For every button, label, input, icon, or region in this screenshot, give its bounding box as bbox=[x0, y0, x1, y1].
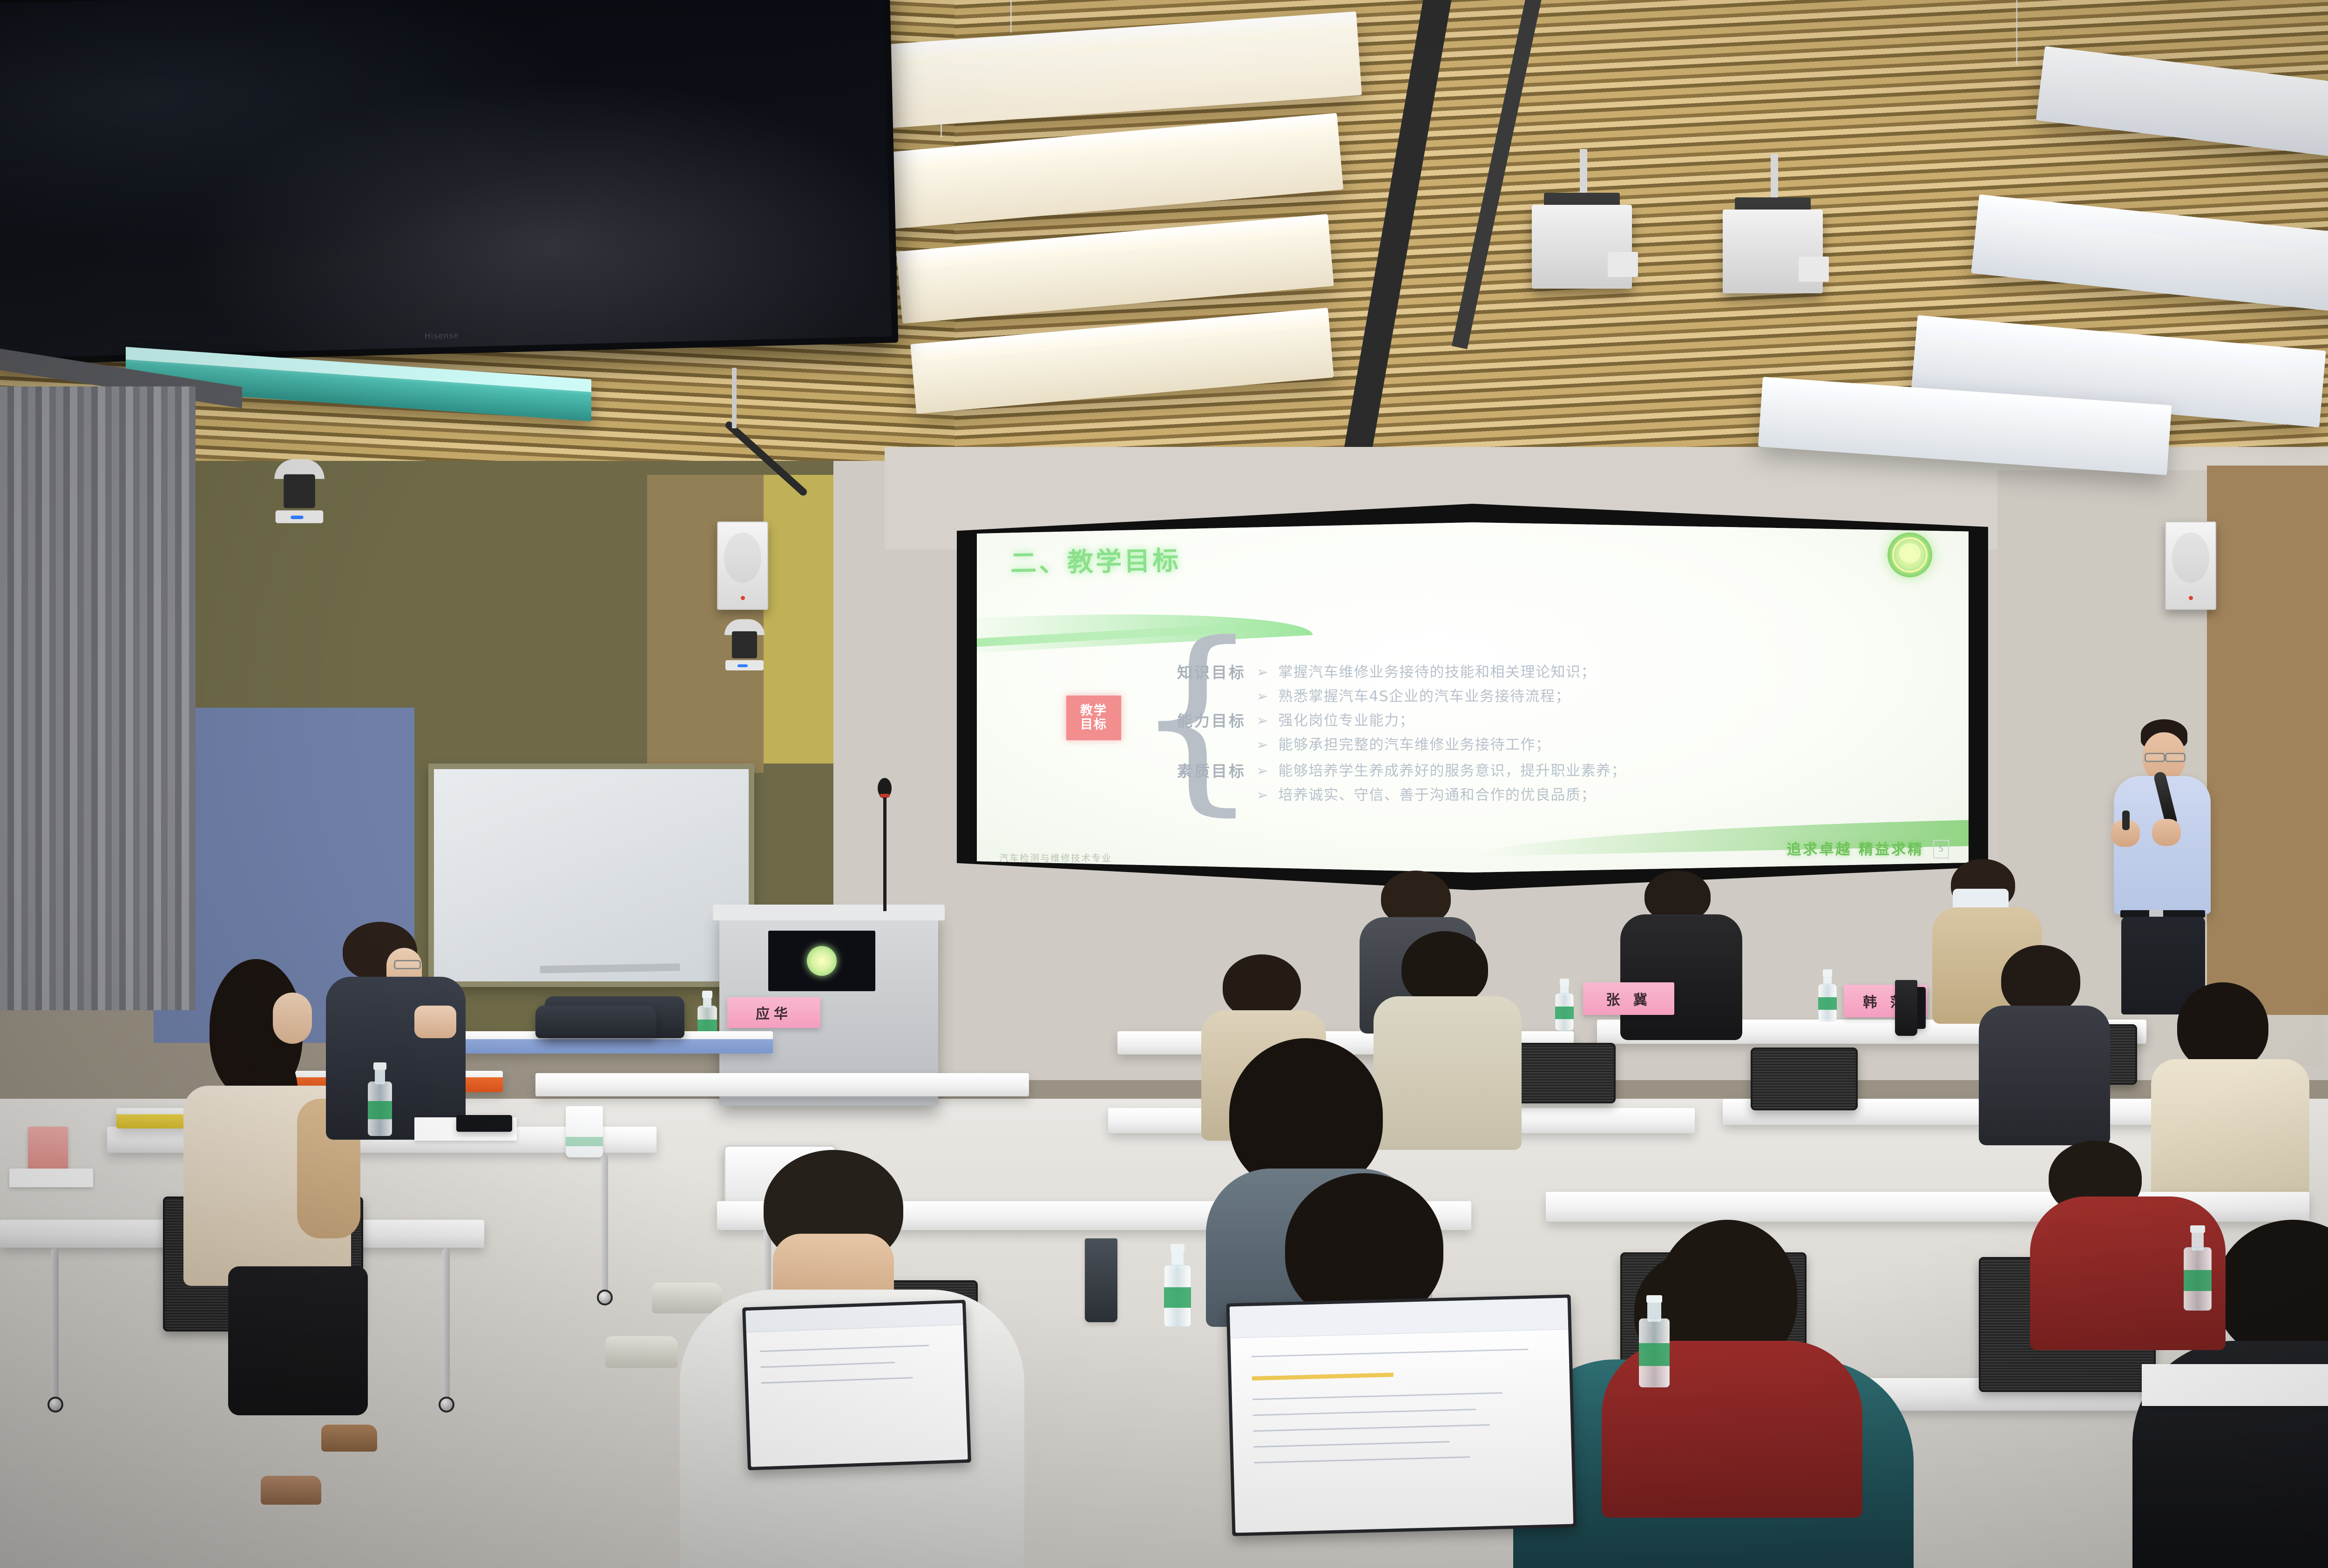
hand bbox=[414, 1006, 456, 1038]
slide-tag-line2: 目标 bbox=[1080, 718, 1107, 732]
thermos-mid bbox=[1895, 980, 1917, 1036]
water-bottle-front-2 bbox=[2184, 1229, 2212, 1311]
bullet-arrow-icon-2: ➢ bbox=[1256, 688, 1269, 705]
bullet-text-2: 熟悉掌握汽车4S企业的汽车业务接待流程； bbox=[1278, 688, 1570, 705]
papers-foreground bbox=[2142, 1364, 2328, 1406]
slide-bullet-2: ➢熟悉掌握汽车4S企业的汽车业务接待流程； bbox=[1256, 684, 1570, 705]
torso bbox=[326, 977, 466, 1140]
papers-left bbox=[9, 1169, 93, 1187]
podium-microphone-stem bbox=[883, 789, 887, 911]
water-bottle-left bbox=[368, 1066, 392, 1136]
presenter-glasses-icon-2 bbox=[2165, 753, 2186, 762]
wall-speaker-left bbox=[717, 521, 768, 610]
bullet-arrow-icon-5: ➢ bbox=[1256, 763, 1269, 779]
projection-screen: 二、教学目标 教学 目标 { 知识目标 能力目标 素质目标 ➢掌握汽车维修业务接… bbox=[977, 522, 1969, 872]
ptz-camera-front-icon bbox=[724, 619, 765, 670]
curly-brace-icon: { bbox=[1133, 647, 1171, 787]
slide-tag-badge: 教学 目标 bbox=[1066, 696, 1121, 740]
desk-leg bbox=[601, 1154, 608, 1293]
whiteboard bbox=[428, 764, 754, 987]
goal-label-quality: 素质目标 bbox=[1177, 759, 1246, 781]
ceiling-projector-2 bbox=[1723, 210, 1823, 293]
face-profile bbox=[273, 993, 312, 1044]
ptz-camera-icon bbox=[274, 459, 325, 523]
spreadsheet-toolbar bbox=[1230, 1298, 1569, 1338]
slide-bullet-1: ➢掌握汽车维修业务接待的技能和相关理论知识； bbox=[1256, 660, 1596, 681]
presenter-glasses-icon bbox=[2145, 753, 2165, 762]
bullet-text-1: 掌握汽车维修业务接待的技能和相关理论知识； bbox=[1278, 664, 1596, 681]
bullet-text-5: 能够培养学生养成养好的服务意识，提升职业素养； bbox=[1278, 763, 1626, 779]
slide-tag-line1: 教学 bbox=[1080, 704, 1107, 718]
torso bbox=[1374, 996, 1522, 1150]
head-hair bbox=[2001, 945, 2080, 1015]
slide-bullet-4: ➢能够承担完整的汽车维修业务接待工作； bbox=[1256, 733, 1550, 754]
laptop-screen-center bbox=[1230, 1298, 1573, 1533]
bullet-text-4: 能够承担完整的汽车维修业务接待工作； bbox=[1278, 737, 1550, 753]
presenter-hand-right bbox=[2152, 819, 2181, 846]
torso bbox=[2151, 1059, 2309, 1213]
bullet-arrow-icon: ➢ bbox=[1256, 664, 1269, 681]
water-bottle-2 bbox=[1555, 982, 1574, 1031]
bullet-arrow-icon-6: ➢ bbox=[1256, 787, 1269, 804]
bullet-text-3: 强化岗位专业能力； bbox=[1278, 712, 1414, 729]
desk-caster bbox=[47, 1397, 63, 1413]
podium-microphone-ring bbox=[880, 794, 890, 798]
bag-on-blue-desk bbox=[535, 1006, 656, 1038]
water-bottle-front-3 bbox=[1164, 1248, 1191, 1327]
desk-caster bbox=[597, 1290, 613, 1305]
dark-tumbler-front bbox=[1085, 1238, 1117, 1322]
skirt bbox=[228, 1266, 368, 1415]
slide-footer-left: 汽车检测与维修技术专业 bbox=[999, 851, 1112, 864]
desk-leg bbox=[442, 1248, 450, 1401]
slide-bullet-6: ➢培养诚实、守信、善于沟通和合作的优良品质； bbox=[1256, 783, 1596, 804]
spreadsheet-toolbar-left bbox=[745, 1303, 963, 1332]
laptop-center[interactable] bbox=[1226, 1294, 1577, 1536]
tv-screen-reflection bbox=[0, 0, 892, 358]
torso bbox=[1979, 1006, 2110, 1145]
desk-mid-row-left bbox=[535, 1073, 1029, 1096]
water-bottle-3 bbox=[1818, 973, 1837, 1021]
window-curtain bbox=[0, 386, 196, 1010]
slide-bullet-3: ➢强化岗位专业能力； bbox=[1256, 709, 1414, 730]
slide-title: 二、教学目标 bbox=[1010, 540, 1181, 580]
light-wire bbox=[1010, 0, 1012, 33]
sneaker-left bbox=[652, 1283, 722, 1313]
goal-label-knowledge: 知识目标 bbox=[1177, 660, 1246, 683]
podium-monitor-logo-icon bbox=[807, 946, 837, 976]
chair-mid-2[interactable] bbox=[1751, 1048, 1858, 1110]
water-bottle-front-1 bbox=[1639, 1299, 1670, 1387]
glasses-icon bbox=[394, 960, 421, 969]
ceiling-projector-1 bbox=[1532, 205, 1632, 289]
school-logo-icon bbox=[1888, 533, 1932, 577]
light-wire-2 bbox=[941, 112, 942, 137]
laptop-screen-left bbox=[745, 1303, 968, 1467]
boom-mic-mount bbox=[732, 368, 737, 428]
goal-label-ability: 能力目标 bbox=[1177, 709, 1246, 731]
bullet-text-6: 培养诚实、守信、善于沟通和合作的优良品质； bbox=[1278, 787, 1596, 804]
wall-speaker-right bbox=[2165, 521, 2216, 610]
bullet-arrow-icon-3: ➢ bbox=[1256, 712, 1269, 729]
name-card-2: 张 冀 bbox=[1583, 982, 1674, 1015]
head-hair bbox=[2177, 982, 2268, 1071]
name-card-1: 应华 bbox=[727, 997, 820, 1028]
presenter-clicker bbox=[2122, 811, 2130, 830]
podium-top-surface bbox=[713, 905, 945, 920]
slide-footer-right: 追求卓越 精益求精 bbox=[1787, 838, 1924, 858]
sneaker-right bbox=[605, 1336, 678, 1368]
shoe-right bbox=[261, 1476, 321, 1505]
wall-column-right bbox=[2207, 466, 2328, 1015]
paper-cup-left bbox=[566, 1106, 603, 1157]
head-hair bbox=[1401, 931, 1488, 1006]
head-hair bbox=[1223, 954, 1301, 1019]
podium-monitor[interactable] bbox=[768, 931, 875, 991]
torso bbox=[1620, 914, 1742, 1040]
powerpoint-slide: 二、教学目标 教学 目标 { 知识目标 能力目标 素质目标 ➢掌握汽车维修业务接… bbox=[977, 522, 1969, 872]
slide-page-number: 5 bbox=[1933, 840, 1949, 858]
chair-mid-1[interactable] bbox=[1513, 1043, 1616, 1103]
laptop-left[interactable] bbox=[742, 1300, 971, 1471]
phone-on-desk bbox=[456, 1115, 512, 1132]
shoe-left bbox=[321, 1425, 377, 1452]
desk-leg bbox=[51, 1248, 59, 1401]
wall-mounted-tv[interactable]: Hisense bbox=[0, 0, 898, 365]
classroom-scene: Hisense 二、教学目标 教学 目标 { 知识目 bbox=[0, 0, 2328, 1568]
bullet-arrow-icon-4: ➢ bbox=[1256, 737, 1269, 753]
light-wire-3 bbox=[2016, 0, 2017, 65]
tv-brand-label: Hisense bbox=[425, 331, 459, 341]
desk-caster bbox=[439, 1397, 454, 1413]
slide-bullet-5: ➢能够培养学生养成养好的服务意识，提升职业素养； bbox=[1256, 759, 1626, 780]
